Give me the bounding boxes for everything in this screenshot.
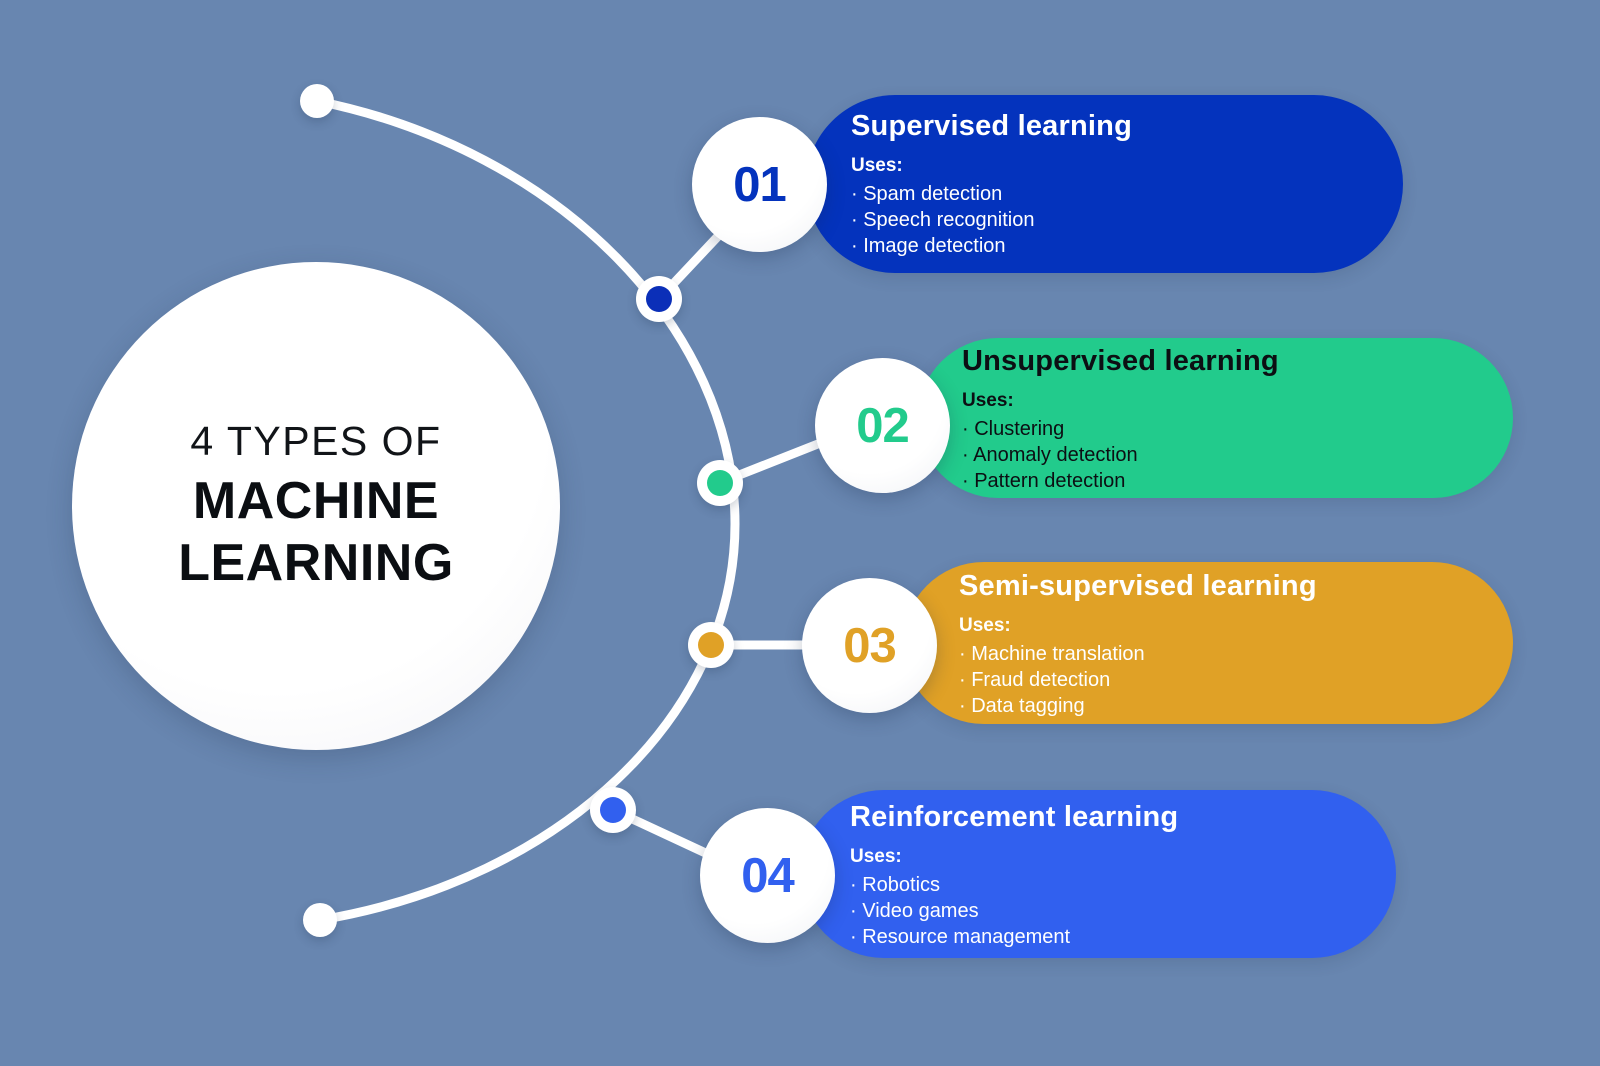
center-title-line-1: MACHINE <box>193 470 439 532</box>
number-badge-02[interactable]: 02 <box>815 358 950 493</box>
number-badge-03[interactable]: 03 <box>802 578 937 713</box>
card-uses-label: Uses: <box>959 614 1317 638</box>
arc-node-02[interactable] <box>697 460 743 506</box>
list-item: · Spam detection <box>851 181 1132 207</box>
card-reinforcement-learning[interactable]: Reinforcement learning Uses: · Robotics … <box>800 790 1396 958</box>
number-badge-label: 02 <box>856 398 909 454</box>
center-subtitle: 4 TYPES OF <box>190 417 441 465</box>
node-dot-icon <box>698 632 724 658</box>
list-item: · Video games <box>850 898 1178 924</box>
card-uses-label: Uses: <box>850 845 1178 869</box>
arc-node-04[interactable] <box>590 787 636 833</box>
list-item: · Data tagging <box>959 693 1317 719</box>
card-uses-label: Uses: <box>962 389 1279 413</box>
arc-endpoint-bottom <box>303 903 337 937</box>
card-title: Unsupervised learning <box>962 346 1279 378</box>
card-semi-supervised-learning[interactable]: Semi-supervised learning Uses: · Machine… <box>903 562 1513 724</box>
card-title: Supervised learning <box>851 111 1132 143</box>
number-badge-label: 04 <box>741 848 794 904</box>
list-item: · Robotics <box>850 872 1178 898</box>
card-bullet-list: · Spam detection · Speech recognition · … <box>851 181 1132 259</box>
number-badge-label: 03 <box>843 618 896 674</box>
infographic-canvas: 4 TYPES OF MACHINE LEARNING Supervised l… <box>0 0 1600 1066</box>
list-item: · Clustering <box>962 416 1279 442</box>
node-dot-icon <box>646 286 672 312</box>
number-badge-04[interactable]: 04 <box>700 808 835 943</box>
arc-node-01[interactable] <box>636 276 682 322</box>
node-dot-icon <box>600 797 626 823</box>
list-item: · Pattern detection <box>962 468 1279 494</box>
arc-node-03[interactable] <box>688 622 734 668</box>
list-item: · Fraud detection <box>959 667 1317 693</box>
list-item: · Anomaly detection <box>962 442 1279 468</box>
number-badge-01[interactable]: 01 <box>692 117 827 252</box>
list-item: · Image detection <box>851 233 1132 259</box>
list-item: · Machine translation <box>959 641 1317 667</box>
card-bullet-list: · Machine translation · Fraud detection … <box>959 641 1317 719</box>
node-dot-icon <box>707 470 733 496</box>
card-title: Reinforcement learning <box>850 802 1178 834</box>
list-item: · Resource management <box>850 924 1178 950</box>
card-unsupervised-learning[interactable]: Unsupervised learning Uses: · Clustering… <box>918 338 1513 498</box>
card-supervised-learning[interactable]: Supervised learning Uses: · Spam detecti… <box>806 95 1403 273</box>
card-title: Semi-supervised learning <box>959 571 1317 603</box>
card-uses-label: Uses: <box>851 154 1132 178</box>
card-bullet-list: · Clustering · Anomaly detection · Patte… <box>962 416 1279 494</box>
number-badge-label: 01 <box>733 157 786 213</box>
arc-endpoint-top <box>300 84 334 118</box>
list-item: · Speech recognition <box>851 207 1132 233</box>
central-title-circle: 4 TYPES OF MACHINE LEARNING <box>72 262 560 750</box>
center-title-line-2: LEARNING <box>178 532 454 594</box>
card-bullet-list: · Robotics · Video games · Resource mana… <box>850 872 1178 950</box>
